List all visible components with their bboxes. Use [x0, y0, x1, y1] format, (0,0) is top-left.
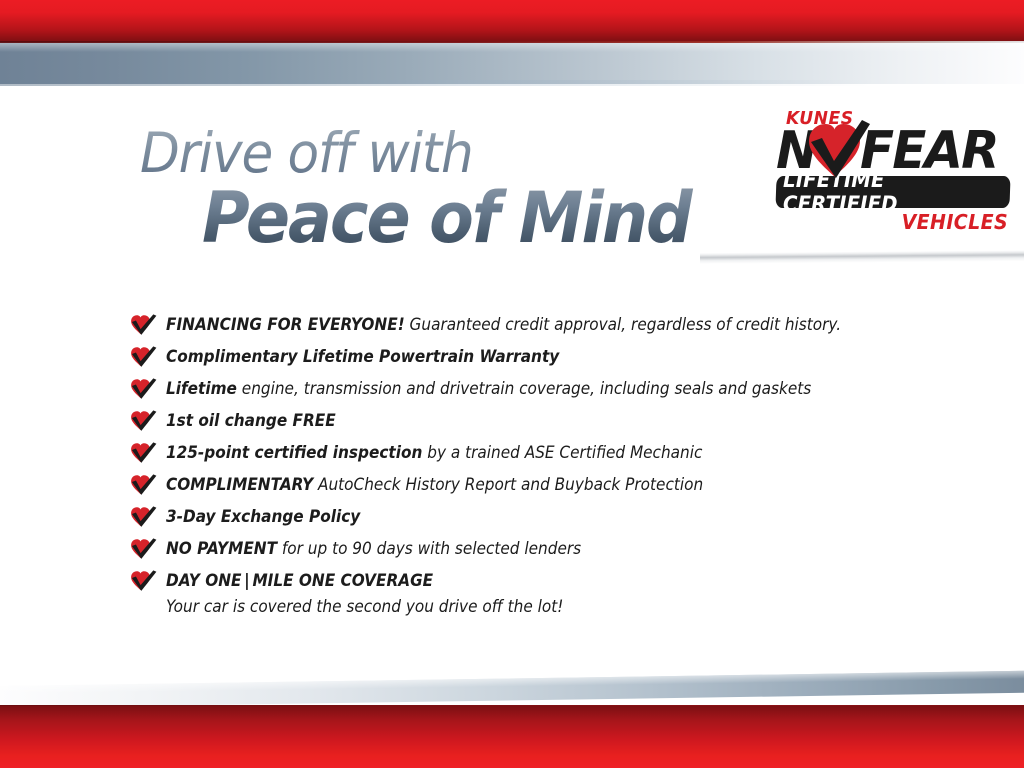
benefit-detail: Guaranteed credit approval, regardless o… [405, 315, 841, 335]
benefit-text: Lifetime engine, transmission and drivet… [166, 374, 881, 405]
benefit-headline: 3-Day Exchange Policy [166, 507, 360, 527]
benefits-list: FINANCING FOR EVERYONE! Guaranteed credi… [130, 310, 960, 621]
heart-check-bullet-icon [130, 474, 157, 496]
benefit-subtext: Your car is covered the second you drive… [166, 594, 881, 620]
benefit-item: NO PAYMENT for up to 90 days with select… [130, 534, 960, 565]
benefit-item: COMPLIMENTARY AutoCheck History Report a… [130, 470, 960, 501]
benefit-item: DAY ONE|MILE ONE COVERAGEYour car is cov… [130, 566, 960, 620]
benefit-text: NO PAYMENT for up to 90 days with select… [166, 534, 881, 565]
headline-line-1: Drive off with [140, 126, 723, 181]
benefit-item: Lifetime engine, transmission and drivet… [130, 374, 960, 405]
benefit-headline: NO PAYMENT [166, 539, 277, 559]
benefit-text: 125-point certified inspection by a trai… [166, 438, 881, 469]
benefit-headline: Lifetime [166, 379, 237, 399]
benefit-detail: by a trained ASE Certified Mechanic [422, 443, 702, 463]
benefit-text: FINANCING FOR EVERYONE! Guaranteed credi… [166, 310, 881, 341]
benefit-text: Complimentary Lifetime Powertrain Warran… [166, 342, 881, 373]
benefit-headline: 125-point certified inspection [166, 443, 422, 463]
heart-check-bullet-icon [130, 314, 157, 336]
heart-check-bullet-icon [130, 442, 157, 464]
benefit-text: 1st oil change FREE [166, 406, 881, 437]
benefit-detail: for up to 90 days with selected lenders [277, 539, 581, 559]
headline-block: Drive off with Peace of Mind [140, 126, 760, 254]
benefit-detail: AutoCheck History Report and Buyback Pro… [313, 475, 703, 495]
benefit-text: COMPLIMENTARY AutoCheck History Report a… [166, 470, 881, 501]
heart-check-bullet-icon [130, 570, 157, 592]
benefit-headline: COMPLIMENTARY [166, 475, 313, 495]
benefit-item: 125-point certified inspection by a trai… [130, 438, 960, 469]
benefit-item: Complimentary Lifetime Powertrain Warran… [130, 342, 960, 373]
heart-check-bullet-icon [130, 378, 157, 400]
heart-check-bullet-icon [130, 538, 157, 560]
benefit-headline-2: MILE ONE COVERAGE [252, 571, 433, 591]
kunes-no-fear-logo: KUNES NFEAR LIFETIME CERTIFIED VEHICLES [772, 108, 1012, 248]
benefit-text: DAY ONE|MILE ONE COVERAGE [166, 566, 881, 597]
benefit-item: 1st oil change FREE [130, 406, 960, 437]
benefit-headline: 1st oil change FREE [166, 411, 336, 431]
logo-vehicles-text: VEHICLES [902, 210, 1008, 234]
benefit-separator: | [241, 571, 252, 591]
top-red-band [0, 0, 1024, 42]
heart-check-bullet-icon [130, 346, 157, 368]
benefit-headline: FINANCING FOR EVERYONE! [166, 315, 405, 335]
bottom-red-band [0, 706, 1024, 768]
top-silver-shine [0, 43, 1024, 52]
headline-line-2: Peace of Mind [202, 183, 721, 254]
headline-divider [700, 250, 1024, 264]
benefit-headline: Complimentary Lifetime Powertrain Warran… [166, 347, 559, 367]
heart-check-icon [805, 120, 871, 182]
benefit-item: 3-Day Exchange Policy [130, 502, 960, 533]
heart-check-bullet-icon [130, 506, 157, 528]
benefit-item: FINANCING FOR EVERYONE! Guaranteed credi… [130, 310, 960, 341]
benefit-detail: engine, transmission and drivetrain cove… [237, 379, 811, 399]
benefit-text: 3-Day Exchange Policy [166, 502, 881, 533]
top-silver-shadow [0, 80, 1024, 86]
benefit-headline: DAY ONE [166, 571, 241, 591]
advertisement-page: Drive off with Peace of Mind KUNES NFEAR… [0, 0, 1024, 768]
heart-check-bullet-icon [130, 410, 157, 432]
